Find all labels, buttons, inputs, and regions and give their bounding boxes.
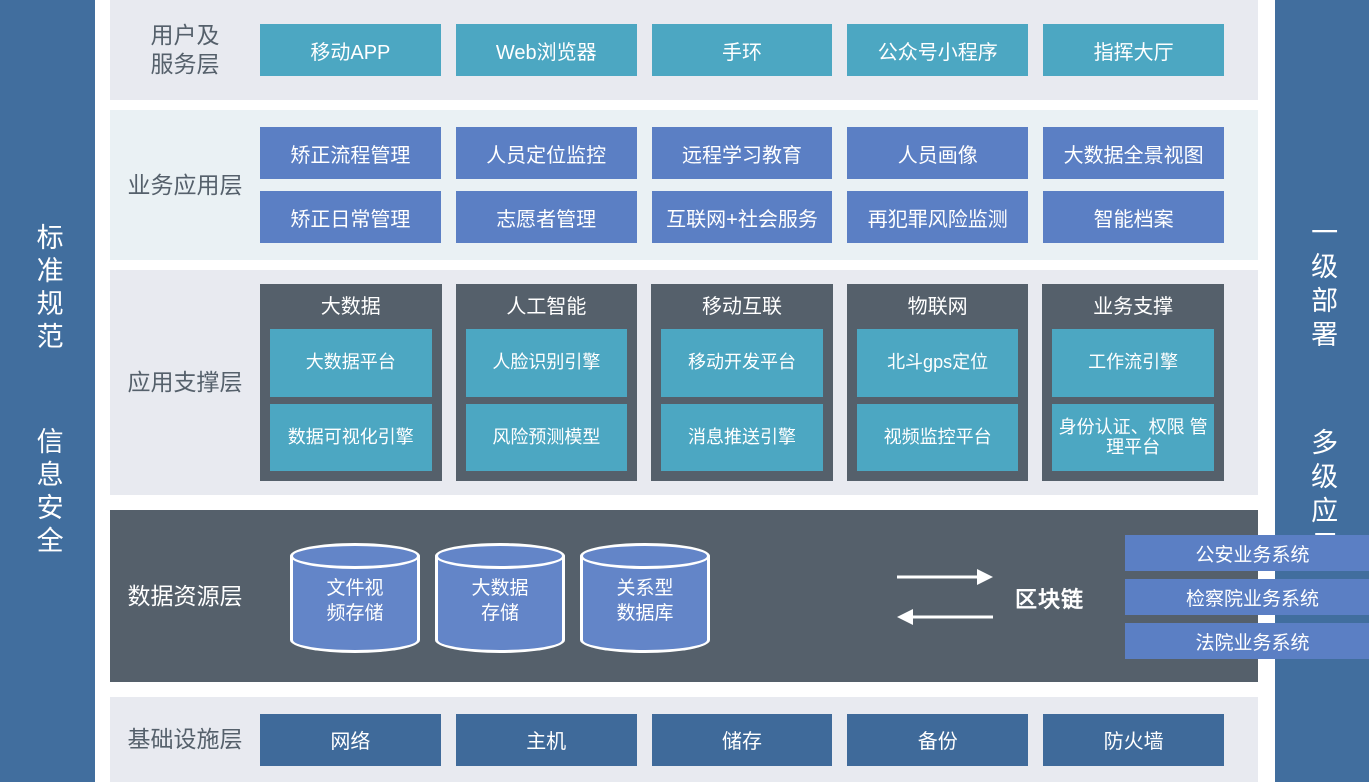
cylinder-file-video-storage-label: 文件视 频存储 xyxy=(290,577,420,626)
cylinder-top-shape xyxy=(435,543,565,569)
support-panel-business-support: 业务支撑 工作流引擎 身份认证、权限 管理平台 xyxy=(1042,284,1224,481)
business-application-row-1: 矫正流程管理 人员定位监控 远程学习教育 人员画像 大数据全景视图 xyxy=(260,127,1224,179)
layer-user-service: 用户及 服务层 移动APP Web浏览器 手环 公众号小程序 指挥大厅 xyxy=(110,0,1258,100)
standards-security-rail: 标准规范 信息安全 xyxy=(0,0,95,782)
support-item-data-visualization-engine[interactable]: 数据可视化引擎 xyxy=(270,404,432,472)
support-item-bigdata-platform[interactable]: 大数据平台 xyxy=(270,329,432,397)
user-service-items: 移动APP Web浏览器 手环 公众号小程序 指挥大厅 xyxy=(260,24,1258,76)
cylinder-top-shape xyxy=(580,543,710,569)
user-service-item-command-hall[interactable]: 指挥大厅 xyxy=(1043,24,1224,76)
deployment-rail-label: 一级部署 多级应用 xyxy=(1308,218,1336,564)
deployment-rail: 一级部署 多级应用 xyxy=(1275,0,1369,782)
support-panel-business-support-title: 业务支撑 xyxy=(1052,292,1214,322)
cylinder-file-video-storage[interactable]: 文件视 频存储 xyxy=(290,543,420,653)
support-item-mobile-dev-platform[interactable]: 移动开发平台 xyxy=(661,329,823,397)
support-panel-iot-title: 物联网 xyxy=(857,292,1019,322)
cylinder-bigdata-storage-label: 大数据 存储 xyxy=(435,577,565,626)
layer-business-application: 业务应用层 矫正流程管理 人员定位监控 远程学习教育 人员画像 大数据全景视图 … xyxy=(110,110,1258,260)
cylinder-relational-database[interactable]: 关系型 数据库 xyxy=(580,543,710,653)
cylinder-top-shape xyxy=(290,543,420,569)
layer-data-resource: 数据资源层 文件视 频存储 大数据 存储 关系型 数据库 xyxy=(110,510,1258,682)
user-service-item-wechat-miniprogram[interactable]: 公众号小程序 xyxy=(847,24,1028,76)
biz-item-internet-plus-social-service[interactable]: 互联网+社会服务 xyxy=(652,191,833,243)
support-item-beidou-gps-positioning[interactable]: 北斗gps定位 xyxy=(857,329,1019,397)
support-item-workflow-engine[interactable]: 工作流引擎 xyxy=(1052,329,1214,397)
biz-item-volunteer-management[interactable]: 志愿者管理 xyxy=(456,191,637,243)
infra-item-host[interactable]: 主机 xyxy=(456,714,637,766)
application-support-panels: 大数据 大数据平台 数据可视化引擎 人工智能 人脸识别引擎 风险预测模型 移动互… xyxy=(260,284,1258,481)
external-system-procuratorate[interactable]: 检察院业务系统 xyxy=(1125,579,1369,615)
support-panel-mobile-internet: 移动互联 移动开发平台 消息推送引擎 xyxy=(651,284,833,481)
support-item-risk-prediction-model[interactable]: 风险预测模型 xyxy=(466,404,628,472)
biz-item-bigdata-panorama-view[interactable]: 大数据全景视图 xyxy=(1043,127,1224,179)
infra-item-firewall[interactable]: 防火墙 xyxy=(1043,714,1224,766)
layer-application-support-label: 应用支撑层 xyxy=(110,368,260,397)
external-system-public-security[interactable]: 公安业务系统 xyxy=(1125,535,1369,571)
infrastructure-items: 网络 主机 储存 备份 防火墙 xyxy=(260,714,1258,766)
biz-item-smart-archive[interactable]: 智能档案 xyxy=(1043,191,1224,243)
support-panel-bigdata: 大数据 大数据平台 数据可视化引擎 xyxy=(260,284,442,481)
infra-item-backup[interactable]: 备份 xyxy=(847,714,1028,766)
layer-infrastructure-label: 基础设施层 xyxy=(110,725,260,754)
support-item-video-surveillance-platform[interactable]: 视频监控平台 xyxy=(857,404,1019,472)
architecture-diagram: 标准规范 信息安全 一级部署 多级应用 用户及 服务层 移动APP Web浏览器… xyxy=(0,0,1369,782)
external-system-court[interactable]: 法院业务系统 xyxy=(1125,623,1369,659)
layer-application-support: 应用支撑层 大数据 大数据平台 数据可视化引擎 人工智能 人脸识别引擎 风险预测… xyxy=(110,270,1258,495)
support-panel-mobile-internet-title: 移动互联 xyxy=(661,292,823,322)
support-panel-ai: 人工智能 人脸识别引擎 风险预测模型 xyxy=(456,284,638,481)
layer-business-application-label: 业务应用层 xyxy=(110,171,260,200)
support-item-face-recognition-engine[interactable]: 人脸识别引擎 xyxy=(466,329,628,397)
cylinder-bigdata-storage[interactable]: 大数据 存储 xyxy=(435,543,565,653)
blockchain-label: 区块链 xyxy=(1015,582,1084,614)
biz-item-correction-process-management[interactable]: 矫正流程管理 xyxy=(260,127,441,179)
biz-item-recidivism-risk-monitoring[interactable]: 再犯罪风险监测 xyxy=(847,191,1028,243)
biz-item-personnel-portrait[interactable]: 人员画像 xyxy=(847,127,1028,179)
business-application-row-2: 矫正日常管理 志愿者管理 互联网+社会服务 再犯罪风险监测 智能档案 xyxy=(260,191,1224,243)
biz-item-personnel-location-monitoring[interactable]: 人员定位监控 xyxy=(456,127,637,179)
support-item-auth-permission-platform[interactable]: 身份认证、权限 管理平台 xyxy=(1052,404,1214,472)
user-service-item-mobile-app[interactable]: 移动APP xyxy=(260,24,441,76)
data-resource-content: 文件视 频存储 大数据 存储 关系型 数据库 xyxy=(260,510,1258,682)
support-panel-iot: 物联网 北斗gps定位 视频监控平台 xyxy=(847,284,1029,481)
support-panel-ai-title: 人工智能 xyxy=(466,292,628,322)
support-item-message-push-engine[interactable]: 消息推送引擎 xyxy=(661,404,823,472)
business-application-items: 矫正流程管理 人员定位监控 远程学习教育 人员画像 大数据全景视图 矫正日常管理… xyxy=(260,127,1258,243)
layer-data-resource-label: 数据资源层 xyxy=(110,582,260,611)
support-panel-bigdata-title: 大数据 xyxy=(270,292,432,322)
standards-security-rail-label: 标准规范 信息安全 xyxy=(33,223,61,559)
layer-infrastructure: 基础设施层 网络 主机 储存 备份 防火墙 xyxy=(110,697,1258,782)
user-service-item-web-browser[interactable]: Web浏览器 xyxy=(456,24,637,76)
biz-item-remote-learning-education[interactable]: 远程学习教育 xyxy=(652,127,833,179)
arrow-right-icon xyxy=(895,565,995,635)
user-service-item-wristband[interactable]: 手环 xyxy=(652,24,833,76)
bidirectional-arrows xyxy=(895,565,995,635)
cylinder-relational-database-label: 关系型 数据库 xyxy=(580,577,710,626)
infra-item-storage[interactable]: 储存 xyxy=(652,714,833,766)
layer-user-service-label: 用户及 服务层 xyxy=(110,21,260,79)
infra-item-network[interactable]: 网络 xyxy=(260,714,441,766)
external-systems-list: 公安业务系统 检察院业务系统 法院业务系统 xyxy=(1125,535,1369,659)
biz-item-correction-daily-management[interactable]: 矫正日常管理 xyxy=(260,191,441,243)
